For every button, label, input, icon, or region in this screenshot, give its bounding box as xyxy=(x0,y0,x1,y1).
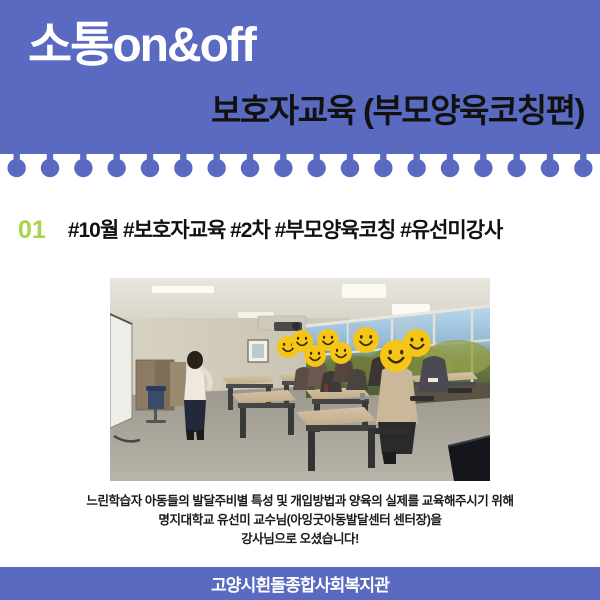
header-band: 소통on&off xyxy=(0,0,600,154)
caption-line-2: 명지대학교 유선미 교수님(아잉굿아동발달센터 센터장)을 xyxy=(0,511,600,530)
poster-card: 소통on&off 보호자교육 (부모양육코칭편) 01 #10월 #보호자교육 … xyxy=(0,0,600,600)
smiley-emoji-overlay xyxy=(110,278,490,481)
page-title: 소통on&off xyxy=(28,22,255,70)
organization-name: 고양시흰돌종합사회복지관 xyxy=(211,571,389,596)
caption-line-1: 느린학습자 아동들의 발달주비별 특성 및 개입방법과 양육의 실제를 교육해주… xyxy=(0,492,600,511)
section-number: 01 xyxy=(18,218,46,243)
page-subtitle: 보호자교육 (부모양육코칭편) xyxy=(211,94,584,127)
footer-bar: 고양시흰돌종합사회복지관 xyxy=(0,567,600,600)
caption-line-3: 강사님으로 오셨습니다! xyxy=(0,530,600,549)
section-heading-row: 01 #10월 #보호자교육 #2차 #부모양육코칭 #유선미강사 xyxy=(0,213,600,247)
hashtag-list: #10월 #보호자교육 #2차 #부모양육코칭 #유선미강사 xyxy=(68,220,503,241)
classroom-photo xyxy=(110,278,490,481)
caption-block: 느린학습자 아동들의 발달주비별 특성 및 개입방법과 양육의 실제를 교육해주… xyxy=(0,492,600,549)
